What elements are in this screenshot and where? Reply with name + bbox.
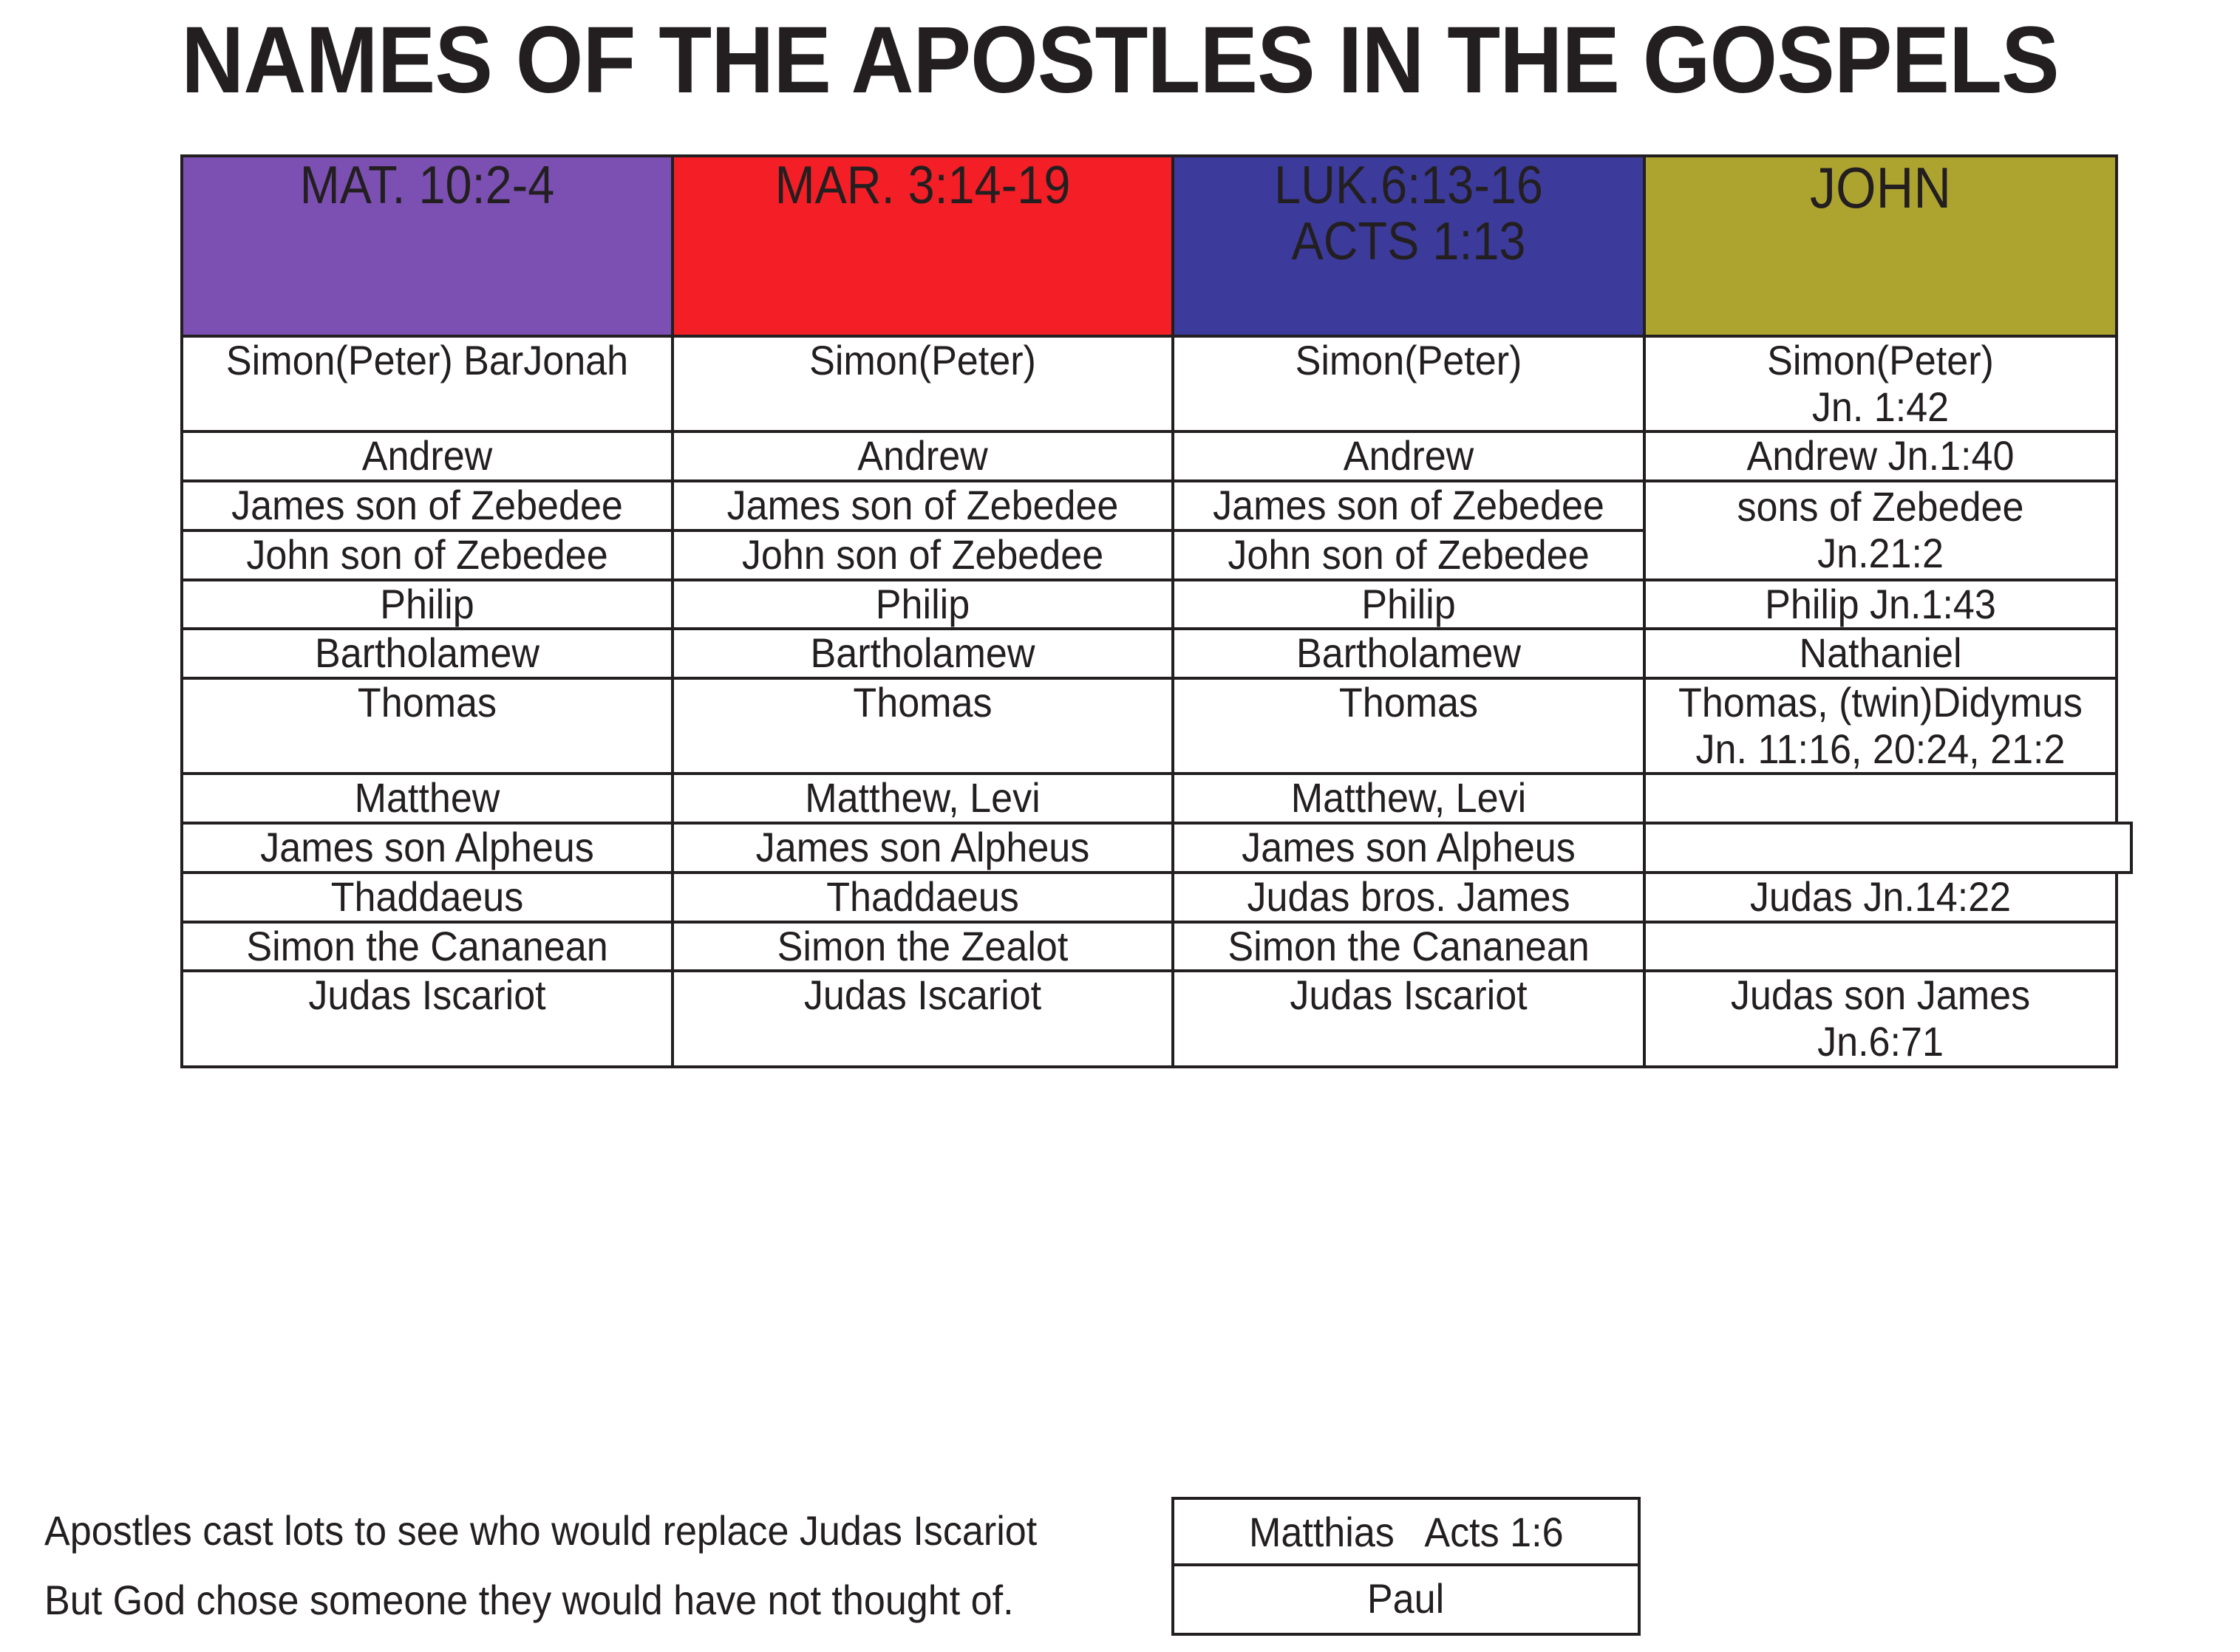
table-row: James son Alpheus James son Alpheus Jame… <box>182 823 2117 873</box>
page-title: NAMES OF THE APOSTLES IN THE GOSPELS <box>89 13 2151 108</box>
cell-john-11 <box>1644 922 2117 972</box>
cell-luke-2: Andrew <box>1173 431 1644 481</box>
cell-luke-6: Bartholamew <box>1173 629 1644 678</box>
table-row: Philip Philip Philip Philip Jn.1:43 <box>182 580 2117 629</box>
column-header-mark-label: MAR. 3:14-19 <box>699 157 1147 214</box>
cell-luke-3: James son of Zebedee <box>1173 481 1644 530</box>
cell-matthew-3: James son of Zebedee <box>182 481 673 530</box>
cell-john-7: Thomas, (twin)Didymus Jn. 11:16, 20:24, … <box>1644 678 2117 774</box>
cell-john-1: Simon(Peter) Jn. 1:42 <box>1644 336 2117 431</box>
apostles-comparison-table: MAT. 10:2-4 MAR. 3:14-19 LUK.6:13-16 ACT… <box>180 154 2118 1068</box>
table-row: Bartholamew Bartholamew Bartholamew Nath… <box>182 629 2117 678</box>
cell-luke-11: Simon the Cananean <box>1173 922 1644 972</box>
cell-matthew-5: Philip <box>182 580 673 629</box>
footer-block: Apostles cast lots to see who would repl… <box>44 1497 1641 1636</box>
table-row: James son of Zebedee James son of Zebede… <box>182 481 2117 530</box>
cell-mark-11: Simon the Zealot <box>673 922 1173 972</box>
cell-mark-7: Thomas <box>673 678 1173 774</box>
cell-matthew-9: James son Alpheus <box>182 823 673 873</box>
cell-john-12: Judas son James Jn.6:71 <box>1644 971 2117 1066</box>
cell-matthew-8: Matthew <box>182 774 673 823</box>
table-row: Andrew Andrew Andrew Andrew Jn.1:40 <box>182 431 2117 481</box>
footnote-cast-lots: Apostles cast lots to see who would repl… <box>44 1497 1171 1552</box>
cell-luke-1: Simon(Peter) <box>1173 336 1644 431</box>
cell-mark-1: Simon(Peter) <box>673 336 1173 431</box>
footnote-god-chose: But God chose someone they would have no… <box>44 1566 1171 1621</box>
cell-john-sons-of-zebedee: sons of Zebedee Jn.21:2 <box>1644 481 2117 579</box>
cell-john-5: Philip Jn.1:43 <box>1644 580 2117 629</box>
table-row: Thomas Thomas Thomas Thomas, (twin)Didym… <box>182 678 2117 774</box>
cell-luke-5: Philip <box>1173 580 1644 629</box>
cell-matthew-1: Simon(Peter) BarJonah <box>182 336 673 431</box>
cell-john-8 <box>1644 774 2117 823</box>
footer-row-matthias: Apostles cast lots to see who would repl… <box>44 1497 1641 1566</box>
table-row: Thaddaeus Thaddaeus Judas bros. James Ju… <box>182 873 2117 922</box>
footer-row-paul: But God chose someone they would have no… <box>44 1566 1641 1636</box>
column-header-john-label: JOHN <box>1669 157 2092 219</box>
cell-mark-3: James son of Zebedee <box>673 481 1173 530</box>
cell-mark-9: James son Alpheus <box>673 823 1173 873</box>
column-header-mark: MAR. 3:14-19 <box>673 156 1173 336</box>
column-header-luke-label: LUK.6:13-16 ACTS 1:13 <box>1198 157 1620 270</box>
table-header-row: MAT. 10:2-4 MAR. 3:14-19 LUK.6:13-16 ACT… <box>182 156 2117 336</box>
cell-mark-5: Philip <box>673 580 1173 629</box>
cell-matthew-2: Andrew <box>182 431 673 481</box>
footer-cell-matthias: Matthias Acts 1:6 <box>1171 1497 1641 1566</box>
column-header-matthew-label: MAT. 10:2-4 <box>208 157 647 214</box>
row-extension-marker <box>2115 822 2133 874</box>
table-row: Judas Iscariot Judas Iscariot Judas Isca… <box>182 971 2117 1066</box>
cell-matthew-6: Bartholamew <box>182 629 673 678</box>
cell-mark-6: Bartholamew <box>673 629 1173 678</box>
table-row: Matthew Matthew, Levi Matthew, Levi <box>182 774 2117 823</box>
cell-mark-4: John son of Zebedee <box>673 530 1173 580</box>
column-header-matthew: MAT. 10:2-4 <box>182 156 673 336</box>
cell-mark-10: Thaddaeus <box>673 873 1173 922</box>
cell-luke-8: Matthew, Levi <box>1173 774 1644 823</box>
cell-luke-7: Thomas <box>1173 678 1644 774</box>
table-row: Simon(Peter) BarJonah Simon(Peter) Simon… <box>182 336 2117 431</box>
cell-luke-4: John son of Zebedee <box>1173 530 1644 580</box>
cell-mark-8: Matthew, Levi <box>673 774 1173 823</box>
cell-matthew-7: Thomas <box>182 678 673 774</box>
cell-mark-2: Andrew <box>673 431 1173 481</box>
cell-matthew-10: Thaddaeus <box>182 873 673 922</box>
cell-matthew-11: Simon the Cananean <box>182 922 673 972</box>
column-header-john: JOHN <box>1644 156 2117 336</box>
cell-luke-10: Judas bros. James <box>1173 873 1644 922</box>
cell-matthew-4: John son of Zebedee <box>182 530 673 580</box>
cell-mark-12: Judas Iscariot <box>673 971 1173 1066</box>
cell-john-10: Judas Jn.14:22 <box>1644 873 2117 922</box>
cell-luke-12: Judas Iscariot <box>1173 971 1644 1066</box>
cell-john-2: Andrew Jn.1:40 <box>1644 431 2117 481</box>
cell-john-9 <box>1644 823 2117 873</box>
cell-john-6: Nathaniel <box>1644 629 2117 678</box>
column-header-luke: LUK.6:13-16 ACTS 1:13 <box>1173 156 1644 336</box>
cell-matthew-12: Judas Iscariot <box>182 971 673 1066</box>
footer-cell-paul: Paul <box>1171 1566 1641 1636</box>
table-row: Simon the Cananean Simon the Zealot Simo… <box>182 922 2117 972</box>
cell-luke-9: James son Alpheus <box>1173 823 1644 873</box>
